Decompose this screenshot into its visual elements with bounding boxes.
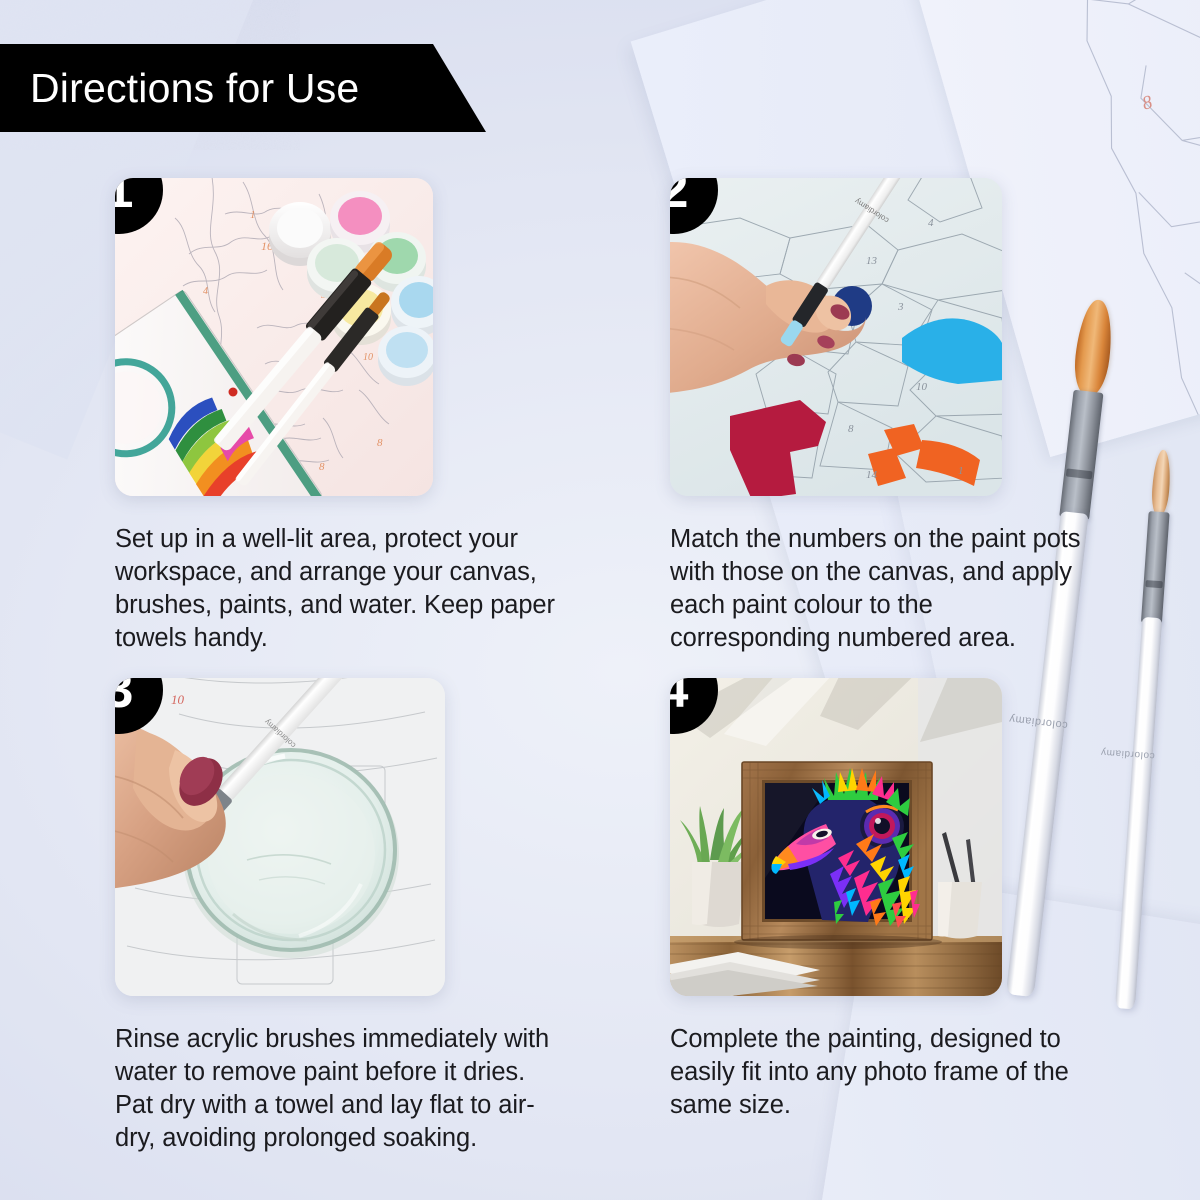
poster-canvas: 8 4 7 colordiamy colordiamy Directions f… xyxy=(0,0,1200,1200)
step-description-3: Rinse acrylic brushes immediately with w… xyxy=(115,1023,565,1156)
page-title: Directions for Use xyxy=(0,65,359,112)
step-2-photo: 4 13 3 10 8 14 1 1 xyxy=(670,178,1002,496)
svg-text:13: 13 xyxy=(866,255,878,267)
step-item-3: 10 xyxy=(115,678,585,1156)
svg-text:10: 10 xyxy=(916,381,928,393)
finished-framed-painting-photo xyxy=(670,678,1002,996)
svg-text:10: 10 xyxy=(171,692,185,707)
canvas-number-label: 8 xyxy=(1140,92,1155,115)
steps-grid: 1 16 4 5 5 4 4 5 7 8 8 10 xyxy=(0,150,1200,1200)
svg-text:4: 4 xyxy=(928,217,934,229)
step-description-2: Match the numbers on the paint pots with… xyxy=(670,523,1090,656)
svg-text:3: 3 xyxy=(897,301,904,313)
step-item-4: 4 Complete the painting, designed to eas… xyxy=(670,678,1140,1122)
header-banner: Directions for Use xyxy=(0,44,486,132)
step-item-1: 1 16 4 5 5 4 4 5 7 8 8 10 xyxy=(115,178,585,656)
rinsing-brush-in-water-photo: 10 xyxy=(115,678,445,996)
svg-text:8: 8 xyxy=(848,423,854,435)
svg-text:1: 1 xyxy=(958,465,964,477)
step-description-1: Set up in a well-lit area, protect your … xyxy=(115,523,570,656)
step-3-photo: 10 xyxy=(115,678,445,996)
step-4-photo: 4 xyxy=(670,678,1002,996)
step-item-2: 4 13 3 10 8 14 1 1 xyxy=(670,178,1140,656)
step-description-4: Complete the painting, designed to easil… xyxy=(670,1023,1090,1122)
step-1-photo: 1 16 4 5 5 4 4 5 7 8 8 10 xyxy=(115,178,433,496)
picture-frame xyxy=(742,762,932,940)
svg-text:14: 14 xyxy=(866,469,878,481)
hand-painting-canvas-photo: 4 13 3 10 8 14 1 1 xyxy=(670,178,1002,496)
paint-supplies-flatlay-photo: 1 16 4 5 5 4 4 5 7 8 8 10 xyxy=(115,178,433,496)
